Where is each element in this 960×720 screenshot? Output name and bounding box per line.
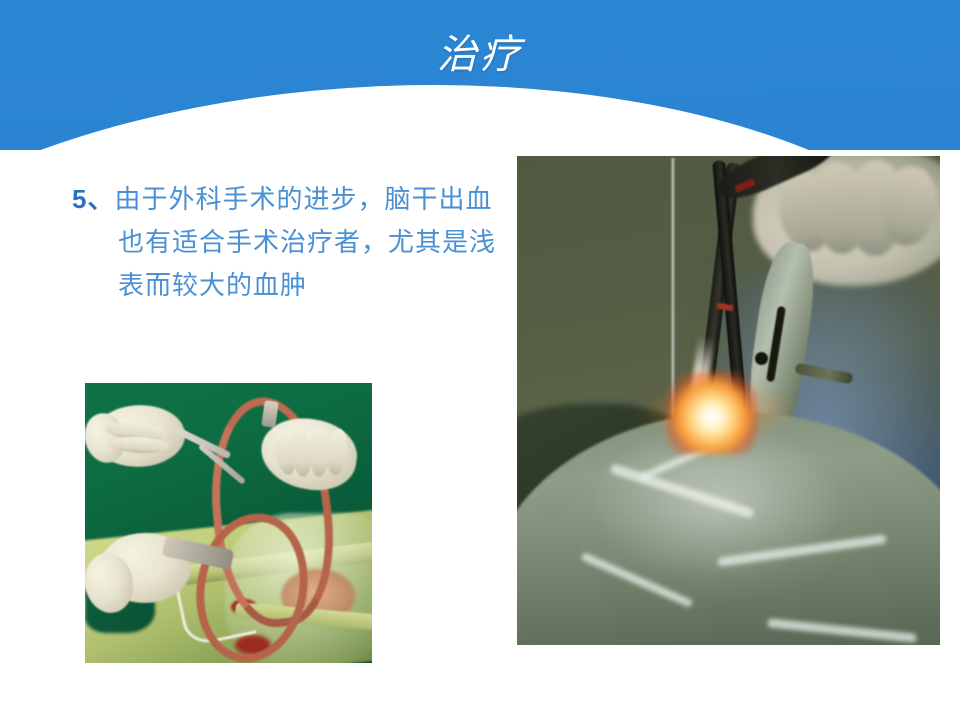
presentation-slide: 治疗 5、由于外科手术的进步，脑干出血也有适合手术治疗者，尤其是浅表而较大的血肿: [0, 0, 960, 720]
bullet-item: 5、由于外科手术的进步，脑干出血也有适合手术治疗者，尤其是浅表而较大的血肿: [72, 178, 502, 308]
photo-right-cautery-flame: [667, 372, 757, 454]
bullet-marker: 5、: [72, 184, 114, 214]
photo-right-retractor-hole: [755, 352, 768, 365]
surgery-closeup-image: [517, 156, 940, 645]
operating-room-image: [85, 383, 372, 663]
bullet-text: 由于外科手术的进步，脑干出血也有适合手术治疗者，尤其是浅表而较大的血肿: [114, 185, 496, 301]
page-title: 治疗: [0, 30, 960, 80]
slide-body-text: 5、由于外科手术的进步，脑干出血也有适合手术治疗者，尤其是浅表而较大的血肿: [72, 178, 502, 308]
